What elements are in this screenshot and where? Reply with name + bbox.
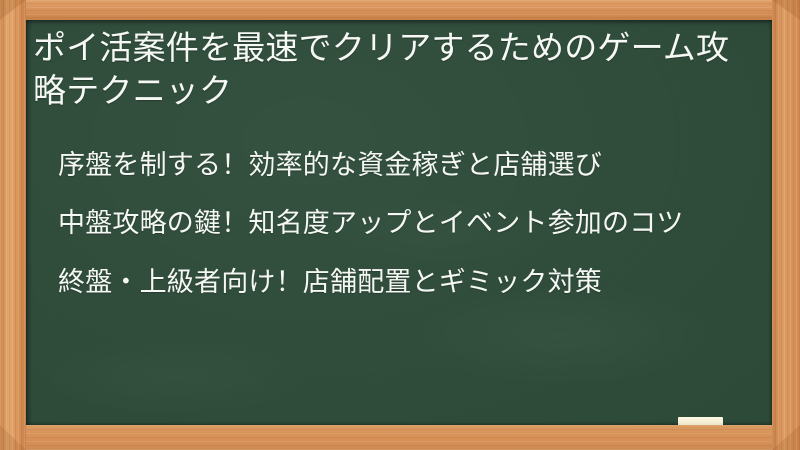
frame-plank-left	[0, 0, 26, 450]
frame-plank-top	[0, 0, 800, 20]
page-title: ポイ活案件を最速でクリアするためのゲーム攻略テクニック	[33, 27, 749, 113]
frame-plank-right	[772, 0, 800, 450]
chalkboard-frame: ポイ活案件を最速でクリアするためのゲーム攻略テクニック 序盤を制する！効率的な資…	[0, 0, 800, 450]
chalk-stick-icon	[678, 417, 723, 425]
list-item: 終盤・上級者向け！店舗配置とギミック対策	[58, 263, 748, 301]
chalkboard-surface: ポイ活案件を最速でクリアするためのゲーム攻略テクニック 序盤を制する！効率的な資…	[26, 20, 772, 425]
frame-plank-bottom	[0, 425, 800, 450]
list-item: 序盤を制する！効率的な資金稼ぎと店舗選び	[58, 146, 748, 184]
list-item: 中盤攻略の鍵！知名度アップとイベント参加のコツ	[58, 204, 748, 242]
topic-list: 序盤を制する！効率的な資金稼ぎと店舗選び 中盤攻略の鍵！知名度アップとイベント参…	[58, 146, 748, 301]
